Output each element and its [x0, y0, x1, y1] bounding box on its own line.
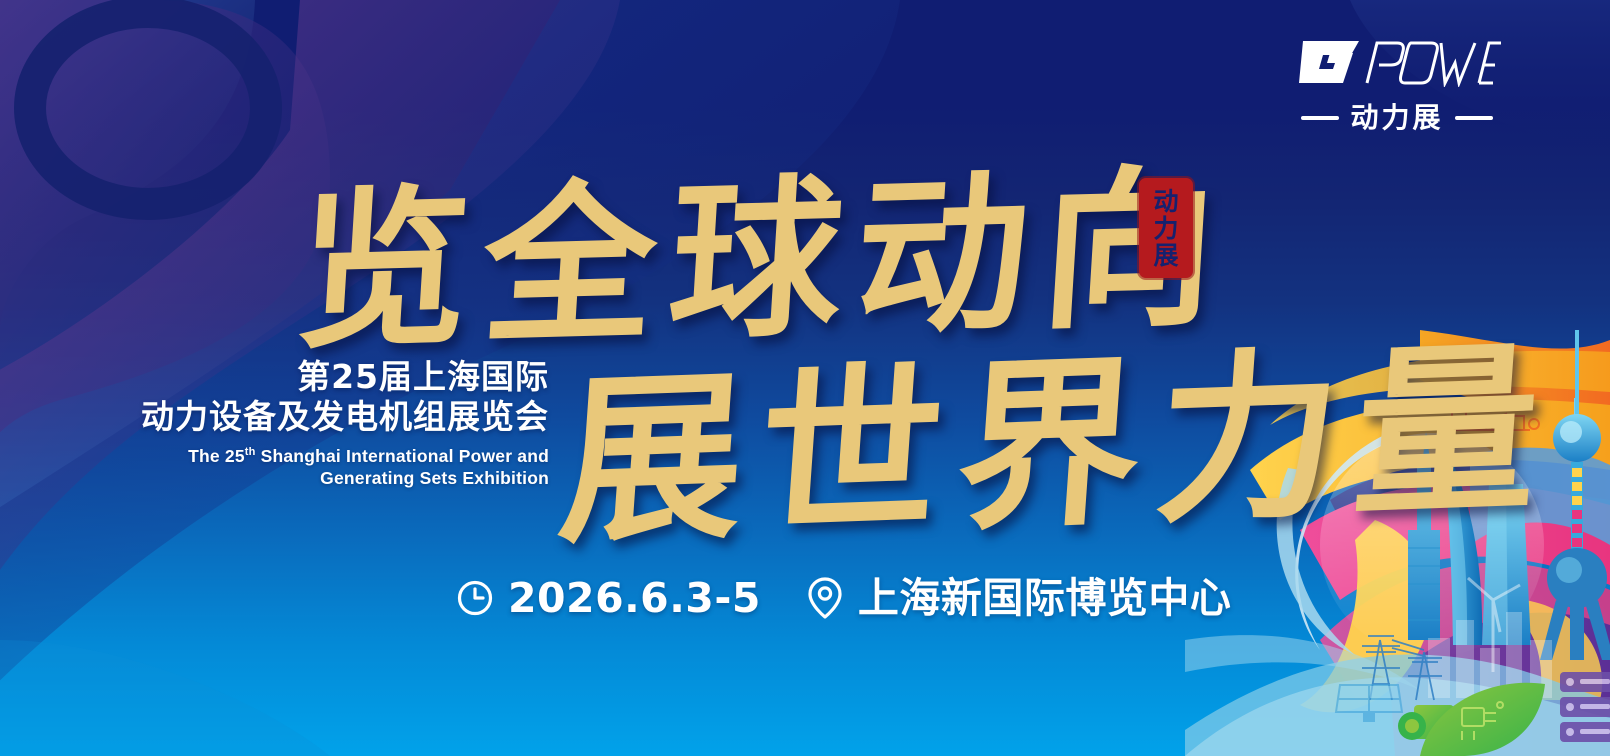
- dash-left-icon: [1301, 116, 1339, 120]
- title-cn-line1: 第25届上海国际: [0, 358, 549, 396]
- event-info-bar: 2026.6.3-5 上海新国际博览中心: [455, 575, 1231, 621]
- title-cn-line2: 动力设备及发电机组展览会: [0, 398, 549, 436]
- title-en-line2: Generating Sets Exhibition: [0, 467, 549, 490]
- seal-char-2: 力: [1153, 215, 1178, 242]
- event-date-label: 2026.6.3-5: [508, 578, 761, 619]
- logo-subtitle: 动力展: [1282, 104, 1512, 132]
- headline-calligraphy-line2: 展世界力量: [553, 282, 1564, 579]
- title-en-line1-post: Shanghai International Power and: [256, 446, 549, 466]
- clock-icon: [455, 578, 495, 618]
- exhibition-banner: 动力展 览全球动向 展世界力量 动 力 展 第25届上海国际 动力设备及发电机组…: [0, 0, 1610, 756]
- red-seal-stamp: 动 力 展: [1139, 178, 1193, 278]
- g-power-logo: 动力展: [1282, 36, 1512, 132]
- seal-char-3: 展: [1153, 242, 1178, 269]
- title-en-line1-pre: The 25: [188, 446, 245, 466]
- logo-subtitle-label: 动力展: [1350, 104, 1443, 132]
- event-venue: 上海新国际博览中心: [805, 575, 1232, 621]
- title-en-ordinal-suffix: th: [245, 446, 256, 458]
- title-en-block: The 25th Shanghai International Power an…: [0, 445, 549, 491]
- seal-char-1: 动: [1153, 188, 1178, 215]
- server-rack-icon: [1560, 672, 1610, 742]
- g-power-logo-icon: [1282, 36, 1512, 88]
- event-venue-label: 上海新国际博览中心: [858, 578, 1232, 619]
- event-date: 2026.6.3-5: [455, 578, 761, 619]
- exhibition-title-block: 第25届上海国际 动力设备及发电机组展览会 The 25th Shanghai …: [0, 358, 563, 490]
- location-pin-icon: [805, 575, 845, 621]
- dash-right-icon: [1455, 116, 1493, 120]
